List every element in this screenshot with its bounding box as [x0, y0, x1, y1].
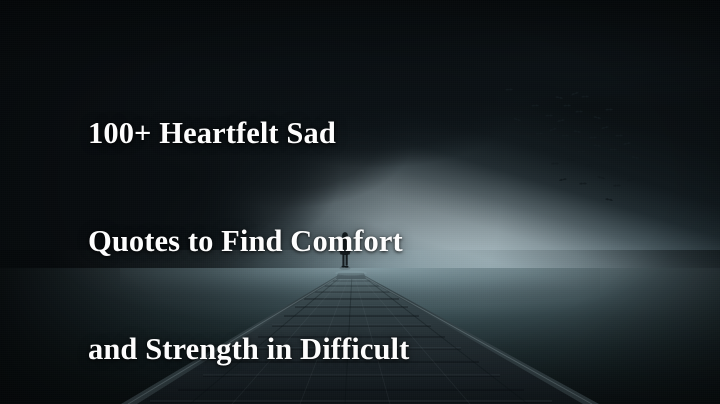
- title-line-3: and Strength in Difficult: [88, 322, 518, 376]
- title-line-2: Quotes to Find Comfort: [88, 214, 518, 268]
- page-title: 100+ Heartfelt Sad Quotes to Find Comfor…: [88, 52, 518, 404]
- banner-image: 100+ Heartfelt Sad Quotes to Find Comfor…: [0, 0, 720, 404]
- title-line-1: 100+ Heartfelt Sad: [88, 106, 518, 160]
